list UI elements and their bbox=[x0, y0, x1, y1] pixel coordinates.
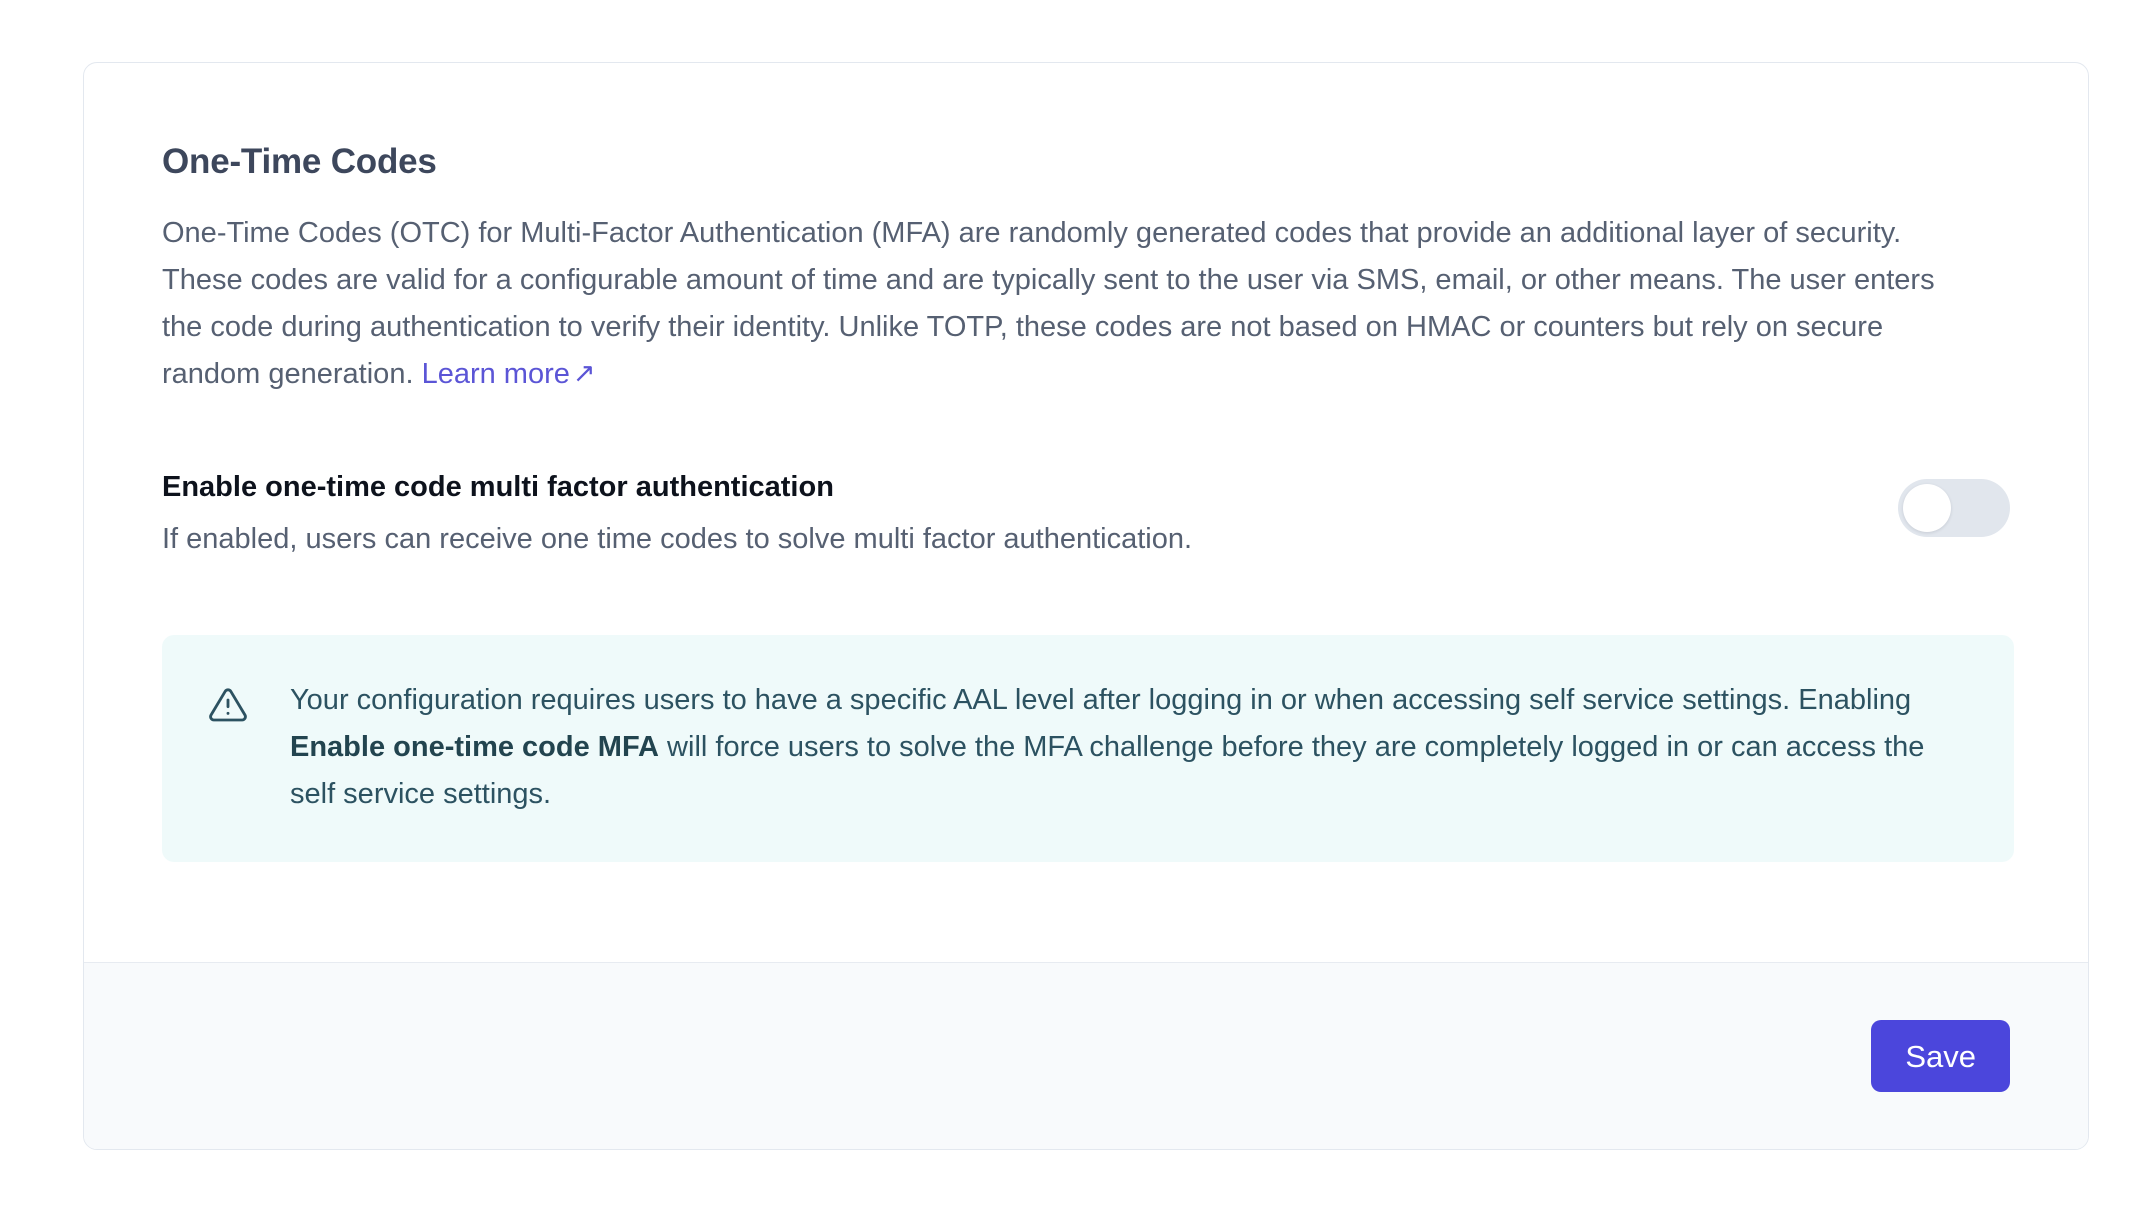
toggle-label: Enable one-time code multi factor authen… bbox=[162, 469, 1858, 505]
learn-more-label: Learn more bbox=[422, 358, 570, 390]
enable-otc-mfa-toggle[interactable] bbox=[1898, 479, 2010, 537]
toggle-text-group: Enable one-time code multi factor authen… bbox=[162, 469, 1858, 557]
external-link-arrow-icon: ↗ bbox=[573, 350, 596, 397]
section-description: One-Time Codes (OTC) for Multi-Factor Au… bbox=[162, 210, 1962, 398]
aal-warning-alert: Your configuration requires users to hav… bbox=[162, 635, 2014, 862]
alert-bold-phrase: Enable one-time code MFA bbox=[290, 731, 659, 763]
alert-text-before: Your configuration requires users to hav… bbox=[290, 684, 1911, 716]
otc-toggle-row: Enable one-time code multi factor authen… bbox=[162, 469, 2010, 557]
card-body: One-Time Codes One-Time Codes (OTC) for … bbox=[84, 63, 2088, 962]
toggle-description: If enabled, users can receive one time c… bbox=[162, 521, 1858, 557]
toggle-knob bbox=[1903, 484, 1951, 532]
page-root: One-Time Codes One-Time Codes (OTC) for … bbox=[0, 0, 2146, 1218]
card-footer: Save bbox=[84, 962, 2088, 1149]
settings-card: One-Time Codes One-Time Codes (OTC) for … bbox=[83, 62, 2089, 1150]
page-title: One-Time Codes bbox=[162, 141, 2010, 183]
alert-message: Your configuration requires users to hav… bbox=[290, 677, 1968, 818]
warning-triangle-icon bbox=[208, 685, 248, 725]
learn-more-link[interactable]: Learn more↗ bbox=[422, 358, 596, 390]
save-button[interactable]: Save bbox=[1871, 1020, 2010, 1092]
